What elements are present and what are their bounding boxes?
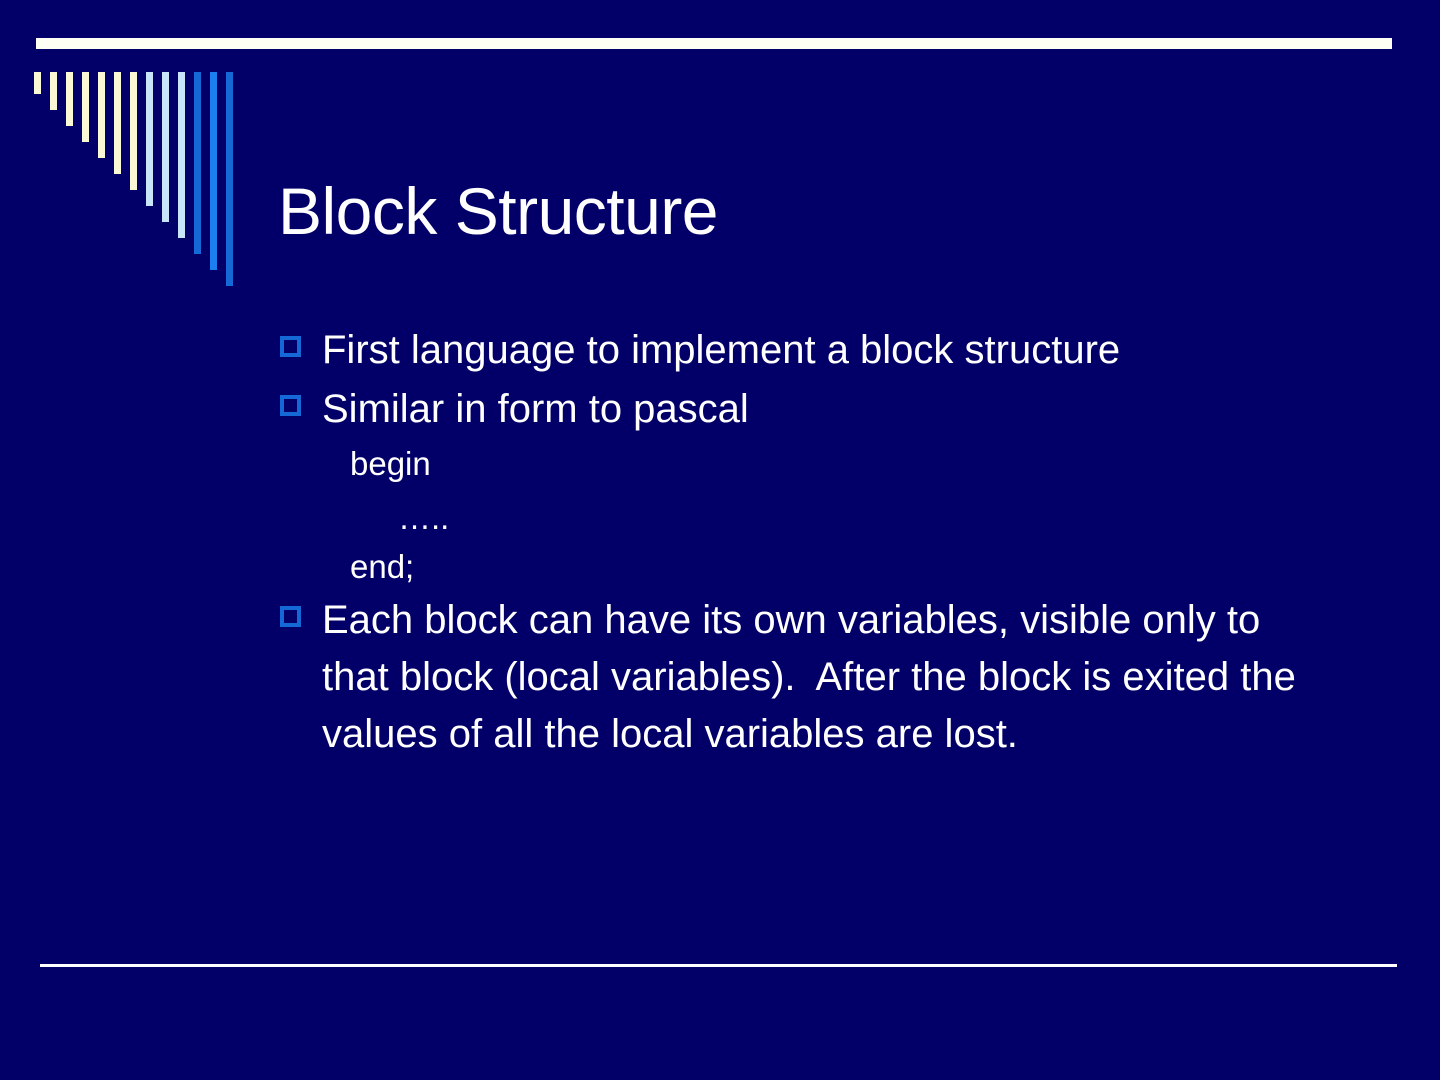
decorative-bar (162, 72, 169, 222)
square-bullet-icon (280, 336, 301, 357)
code-line-end: end; (280, 543, 1320, 592)
decorative-bar (130, 72, 137, 190)
code-line-ellipsis: ….. (280, 494, 1320, 543)
top-divider-rule (36, 38, 1392, 49)
decorative-bar (98, 72, 105, 158)
decorative-bar (210, 72, 217, 270)
decorative-bar (114, 72, 121, 174)
decorative-bar (66, 72, 73, 126)
decorative-bar (34, 72, 41, 94)
code-line-begin: begin (280, 440, 1320, 489)
square-bullet-icon (280, 395, 301, 416)
list-item: First language to implement a block stru… (280, 322, 1320, 379)
list-item: Similar in form to pascal (280, 381, 1320, 438)
slide: Block Structure First language to implem… (0, 0, 1440, 1080)
list-item-label: First language to implement a block stru… (322, 322, 1320, 379)
decorative-bar (226, 72, 233, 286)
decorative-bar (146, 72, 153, 206)
list-item-label: Similar in form to pascal (322, 381, 1320, 438)
decorative-bar (50, 72, 57, 110)
page-title: Block Structure (278, 178, 1278, 244)
square-bullet-icon (280, 606, 301, 627)
bottom-divider-rule (40, 964, 1397, 967)
descending-bars-graphic (34, 72, 244, 302)
list-item: Each block can have its own variables, v… (280, 592, 1320, 762)
decorative-bar (82, 72, 89, 142)
list-item-label: Each block can have its own variables, v… (322, 592, 1320, 762)
slide-body: First language to implement a block stru… (280, 322, 1320, 764)
decorative-bar (194, 72, 201, 254)
decorative-bar (178, 72, 185, 238)
